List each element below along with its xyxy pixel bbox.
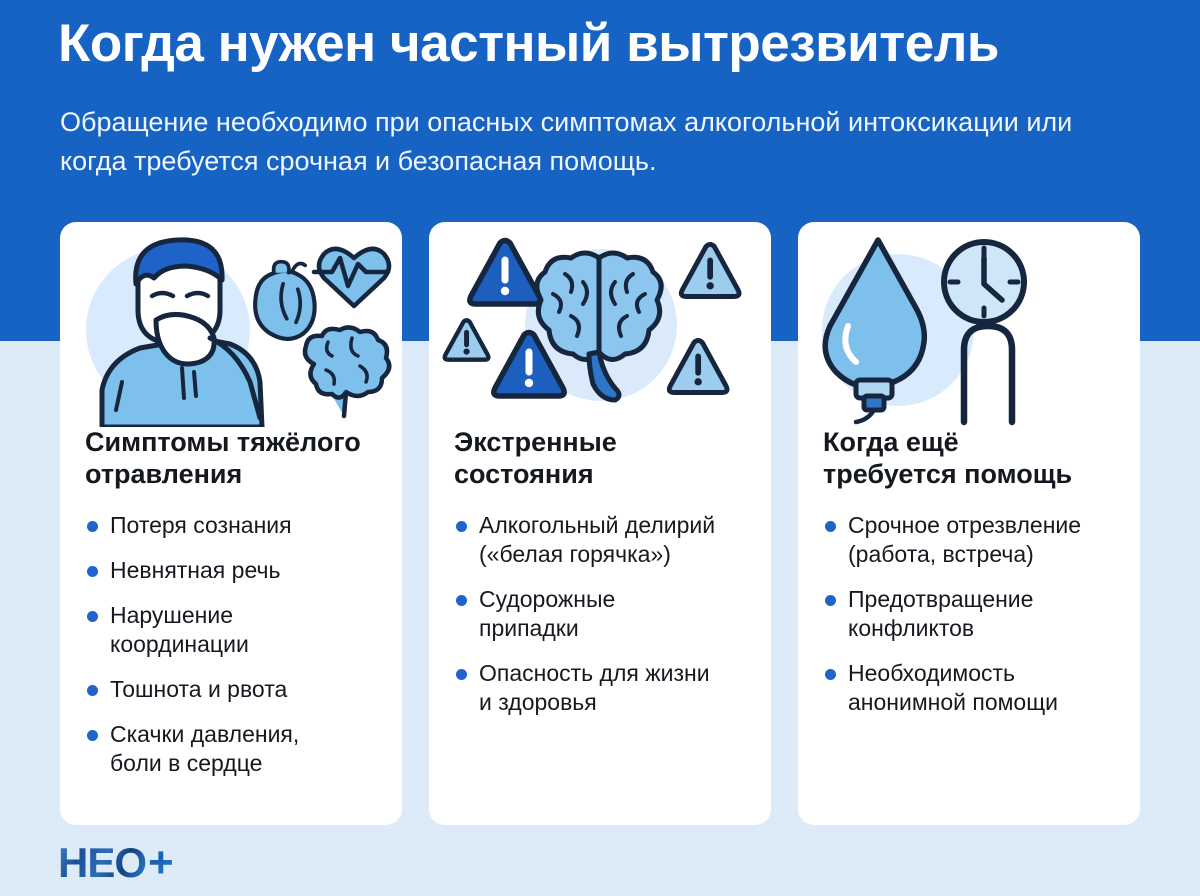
- iv-drip-clock-illustration: [798, 222, 1140, 427]
- list-item: Судорожные припадки: [454, 585, 749, 643]
- list-item: Предотвращение конфликтов: [823, 585, 1118, 643]
- card-body: Когда ещё требуется помощь Срочное отрез…: [798, 427, 1140, 751]
- list-item: Потеря сознания: [85, 511, 380, 540]
- brand-logo-text: НЕО: [58, 842, 146, 884]
- bullet-list: Алкогольный делирий («белая горячка») Су…: [454, 511, 749, 717]
- bullet-list: Срочное отрезвление (работа, встреча) Пр…: [823, 511, 1118, 717]
- brand-logo-plus-icon: +: [148, 841, 174, 885]
- card-heading: Когда ещё требуется помощь: [823, 427, 1118, 491]
- card-heading: Симптомы тяжёлого отравления: [85, 427, 380, 491]
- warning-triangle-icon: [669, 340, 727, 392]
- clock-icon: [944, 242, 1024, 322]
- list-item: Нарушение координации: [85, 601, 380, 659]
- warning-triangle-icon: [681, 244, 739, 296]
- brand-logo: НЕО +: [58, 841, 174, 885]
- list-item: Невнятная речь: [85, 556, 380, 585]
- card-body: Симптомы тяжёлого отравления Потеря созн…: [60, 427, 402, 812]
- warning-triangle-icon: [470, 241, 540, 305]
- list-item: Необходимость анонимной помощи: [823, 659, 1118, 717]
- card-when-else-help: Когда ещё требуется помощь Срочное отрез…: [798, 222, 1140, 825]
- card-body: Экстренные состояния Алкогольный делирий…: [429, 427, 771, 751]
- page-subtitle: Обращение необходимо при опасных симптом…: [60, 103, 1130, 181]
- bullet-list: Потеря сознания Невнятная речь Нарушение…: [85, 511, 380, 778]
- sick-man-heart-brain-illustration: [60, 222, 402, 427]
- card-emergency-states: Экстренные состояния Алкогольный делирий…: [429, 222, 771, 825]
- list-item: Тошнота и рвота: [85, 675, 380, 704]
- list-item: Скачки давления, боли в сердце: [85, 720, 380, 778]
- page-title: Когда нужен частный вытрезвитель: [58, 14, 1158, 73]
- card-severe-poisoning: Симптомы тяжёлого отравления Потеря созн…: [60, 222, 402, 825]
- infographic-root: Когда нужен частный вытрезвитель Обращен…: [0, 0, 1200, 896]
- warning-triangle-icon: [445, 320, 489, 359]
- brain-warning-triangles-illustration: [429, 222, 771, 427]
- list-item: Опасность для жизни и здоровья: [454, 659, 749, 717]
- list-item: Алкогольный делирий («белая горячка»): [454, 511, 749, 569]
- cards-row: Симптомы тяжёлого отравления Потеря созн…: [60, 222, 1140, 825]
- card-heading: Экстренные состояния: [454, 427, 749, 491]
- list-item: Срочное отрезвление (работа, встреча): [823, 511, 1118, 569]
